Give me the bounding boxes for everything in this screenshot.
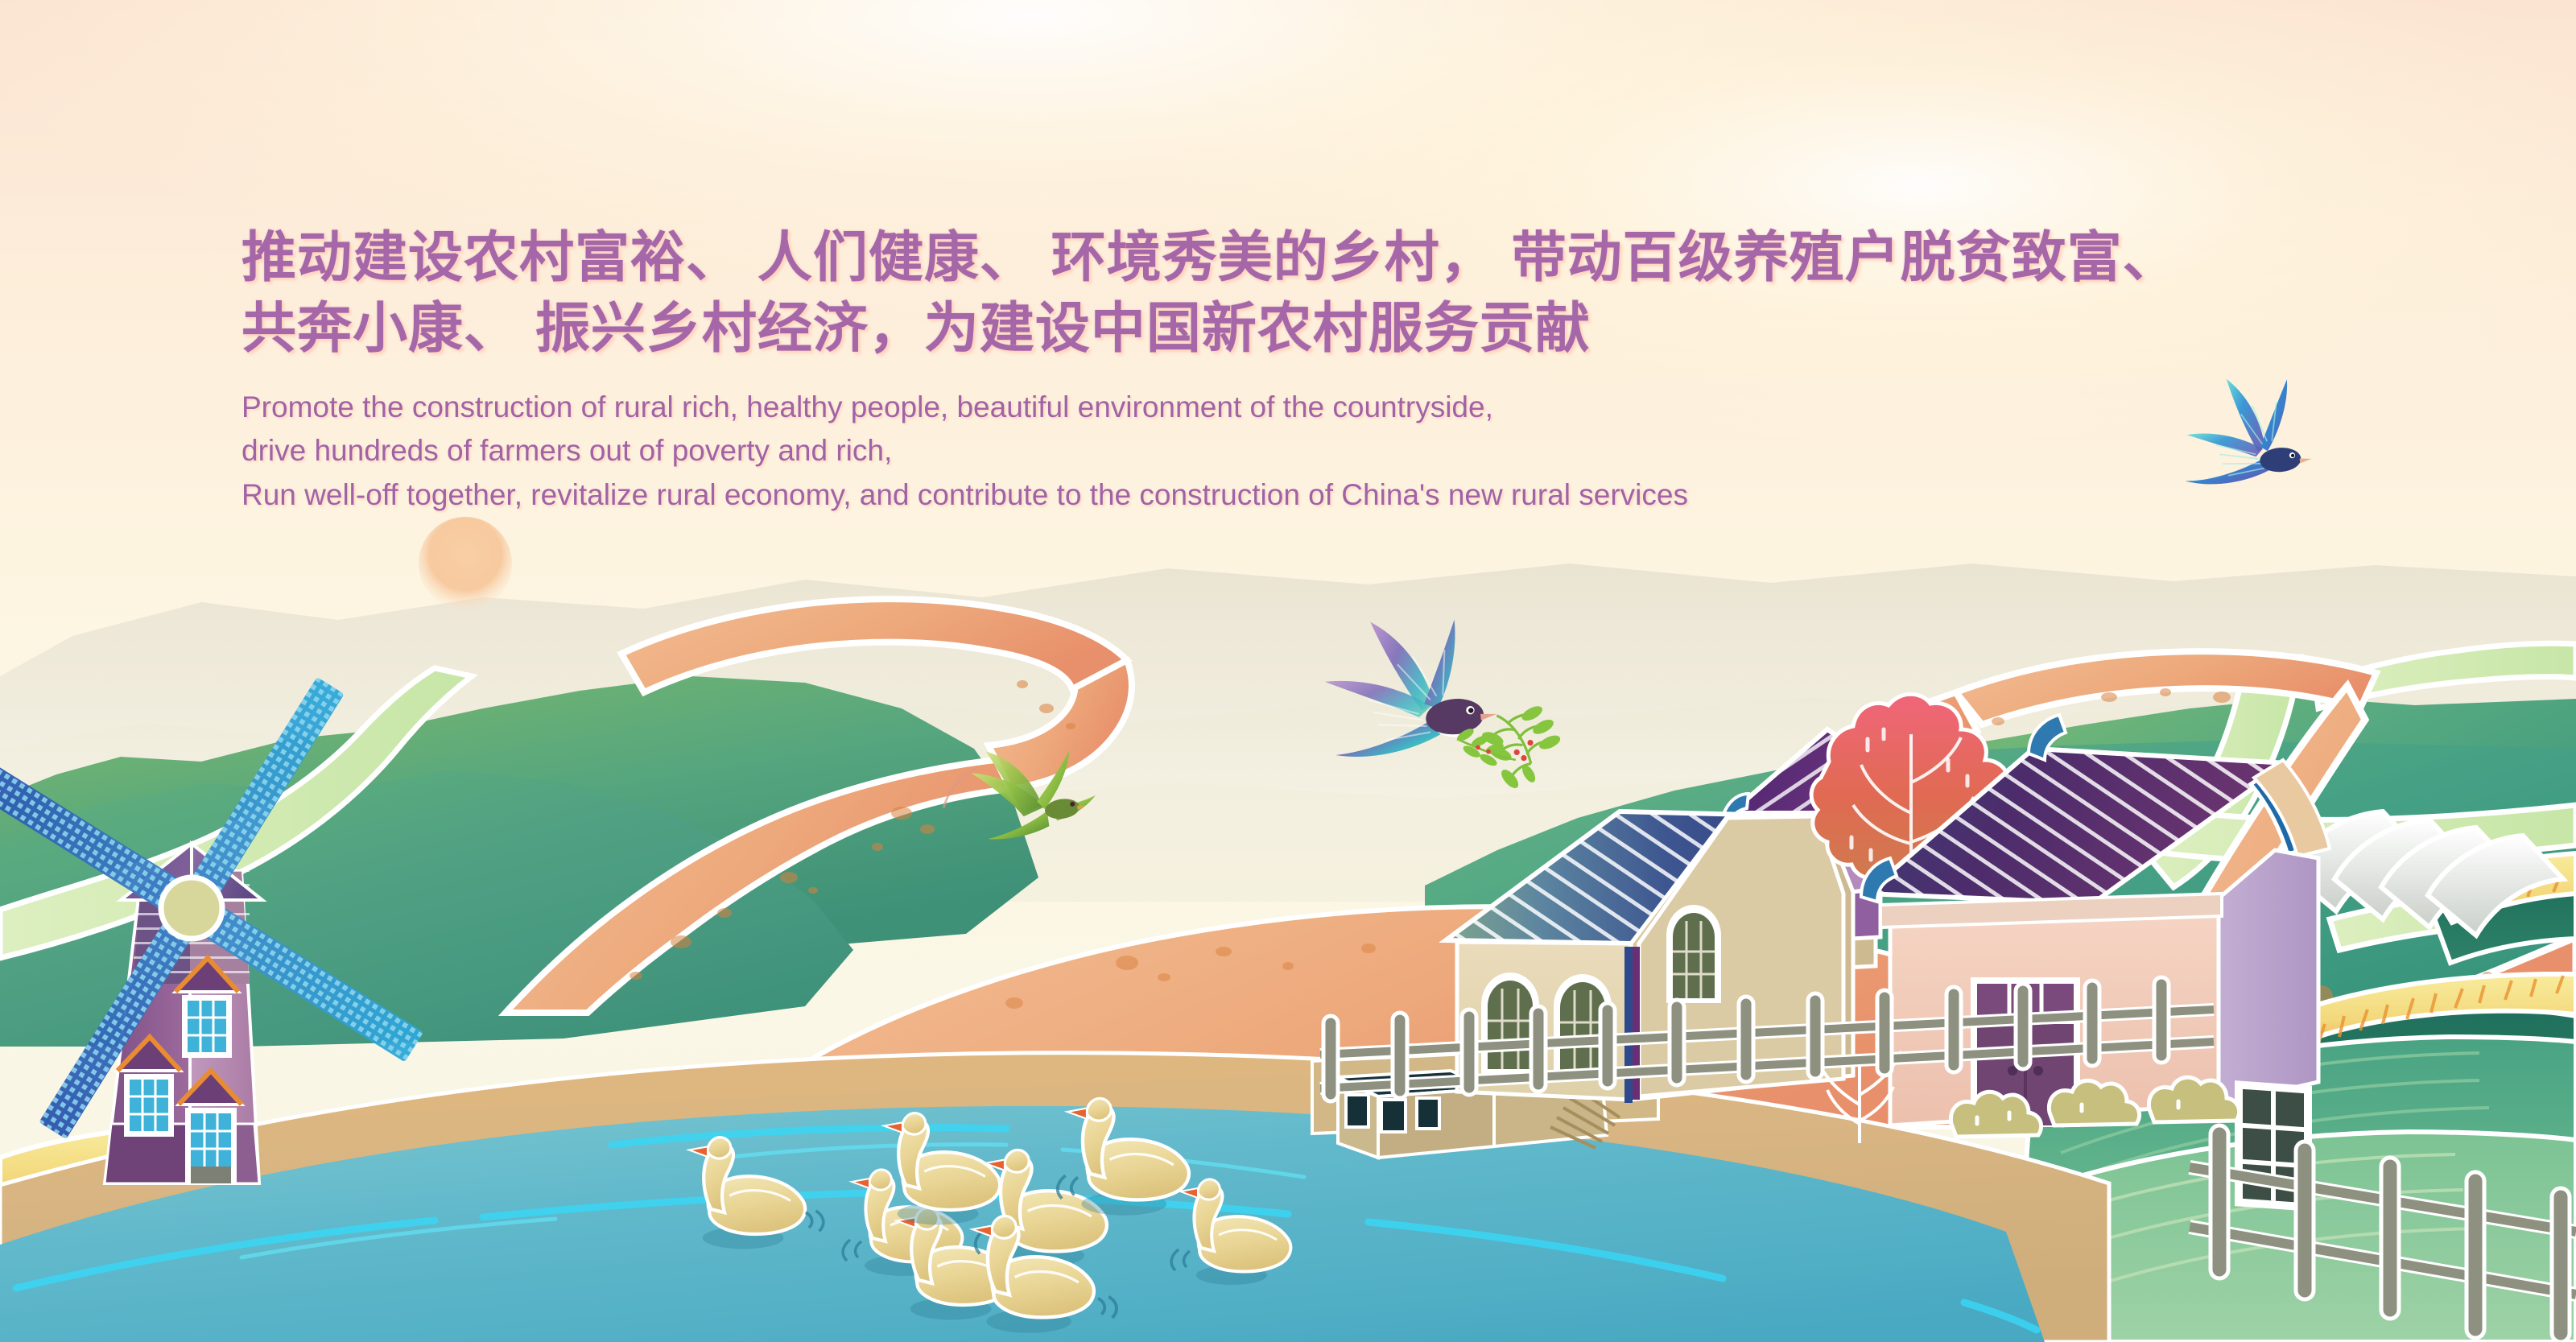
house-left-corner-trim	[1624, 947, 1633, 1103]
windmill-hub	[161, 877, 222, 939]
rural-landscape-illustration	[0, 0, 2576, 1342]
banner-canvas: 推动建设农村富裕、 人们健康、 环境秀美的乡村， 带动百级养殖户脱贫致富、 共奔…	[0, 0, 2576, 1342]
house-right-wall-gable	[2219, 850, 2318, 1105]
house-left-window-gable	[1666, 905, 1721, 1003]
sun-disc	[419, 517, 512, 610]
shed-windows	[1346, 1095, 1439, 1132]
duck-head	[708, 1138, 731, 1158]
